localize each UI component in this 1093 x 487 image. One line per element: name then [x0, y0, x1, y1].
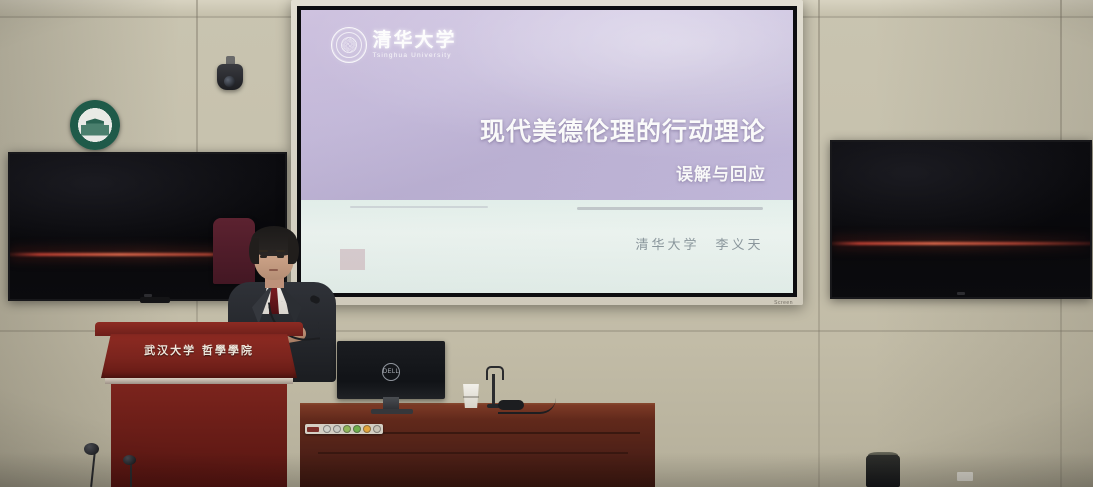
control-button-5[interactable]	[363, 425, 371, 433]
desk	[300, 405, 655, 487]
speaker-eye-left	[260, 255, 267, 258]
security-camera-icon	[215, 56, 247, 90]
lectern-lip	[105, 378, 293, 384]
floor-microphone-2	[118, 455, 148, 487]
display-right-glass	[832, 142, 1090, 297]
floor-mic-1-stem	[90, 451, 96, 487]
projection-screen-bezel: 清华大学 Tsinghua University 现代美德伦理的行动理论 误解与…	[297, 6, 797, 297]
lecture-hall-photo: 清华大学 Tsinghua University 现代美德伦理的行动理论 误解与…	[0, 0, 1093, 487]
speaker-mouth	[269, 269, 278, 271]
lectern-top	[95, 322, 303, 336]
desk-panel-line-2	[318, 452, 628, 454]
projection-screen-frame: 清华大学 Tsinghua University 现代美德伦理的行动理论 误解与…	[291, 0, 803, 305]
display-right-logo	[957, 292, 965, 295]
wuhan-seal-pavilion	[81, 119, 109, 136]
speaker-hair-right	[288, 236, 299, 264]
tsinghua-logo: 清华大学 Tsinghua University	[331, 27, 457, 63]
display-right[interactable]	[830, 140, 1092, 299]
speaker-brow-left	[259, 250, 268, 252]
tsinghua-name-cn: 清华大学	[373, 31, 457, 50]
control-panel-label	[307, 427, 319, 432]
wall-seam-right	[818, 0, 820, 487]
control-button-4[interactable]	[353, 425, 361, 433]
floor-speaker	[866, 455, 900, 487]
dell-logo-icon: DELL	[382, 363, 400, 381]
dell-logo-text: DELL	[383, 369, 399, 375]
lectern-name-plate: 武汉大学 哲學學院	[95, 342, 303, 358]
tsinghua-seal-icon	[331, 27, 367, 63]
presentation-slide[interactable]: 清华大学 Tsinghua University 现代美德伦理的行动理论 误解与…	[301, 10, 793, 293]
display-left-stand	[140, 297, 170, 303]
slide-divider-right	[577, 207, 764, 210]
screen-brand-badge: Screen	[774, 300, 793, 306]
floor-mic-1-head	[84, 443, 99, 455]
slide-presenter: 清华大学 李义天	[635, 234, 763, 253]
speaker-hair-left	[249, 238, 259, 264]
control-button-3[interactable]	[343, 425, 351, 433]
wuhan-university-seal-icon	[70, 100, 120, 150]
monitor-base	[371, 409, 413, 414]
mic-holder-fork	[486, 366, 504, 380]
mic-holder-post	[492, 374, 495, 406]
camera-lens	[224, 76, 235, 87]
floor-mic-2-head	[123, 455, 136, 465]
paper-cup-band	[463, 396, 479, 398]
control-button-6[interactable]	[373, 425, 381, 433]
slide-title: 现代美德伦理的行动理论	[480, 112, 766, 148]
slide-subtitle: 误解与回应	[676, 160, 766, 185]
dell-monitor[interactable]: DELL	[337, 341, 445, 411]
speaker-brow-right	[276, 250, 285, 252]
floor-microphone-1	[76, 443, 112, 487]
display-right-streak	[830, 242, 1092, 245]
desk-control-panel[interactable]	[305, 424, 383, 434]
slide-swatch	[340, 249, 365, 270]
floor-label-tag	[957, 472, 973, 481]
tsinghua-name-en: Tsinghua University	[373, 53, 457, 60]
speaker-eye-right	[277, 255, 284, 258]
tsinghua-wordmark: 清华大学 Tsinghua University	[373, 31, 457, 60]
control-button-1[interactable]	[323, 425, 331, 433]
desk-device	[498, 400, 524, 410]
slide-divider-left	[350, 206, 488, 208]
control-button-2[interactable]	[333, 425, 341, 433]
